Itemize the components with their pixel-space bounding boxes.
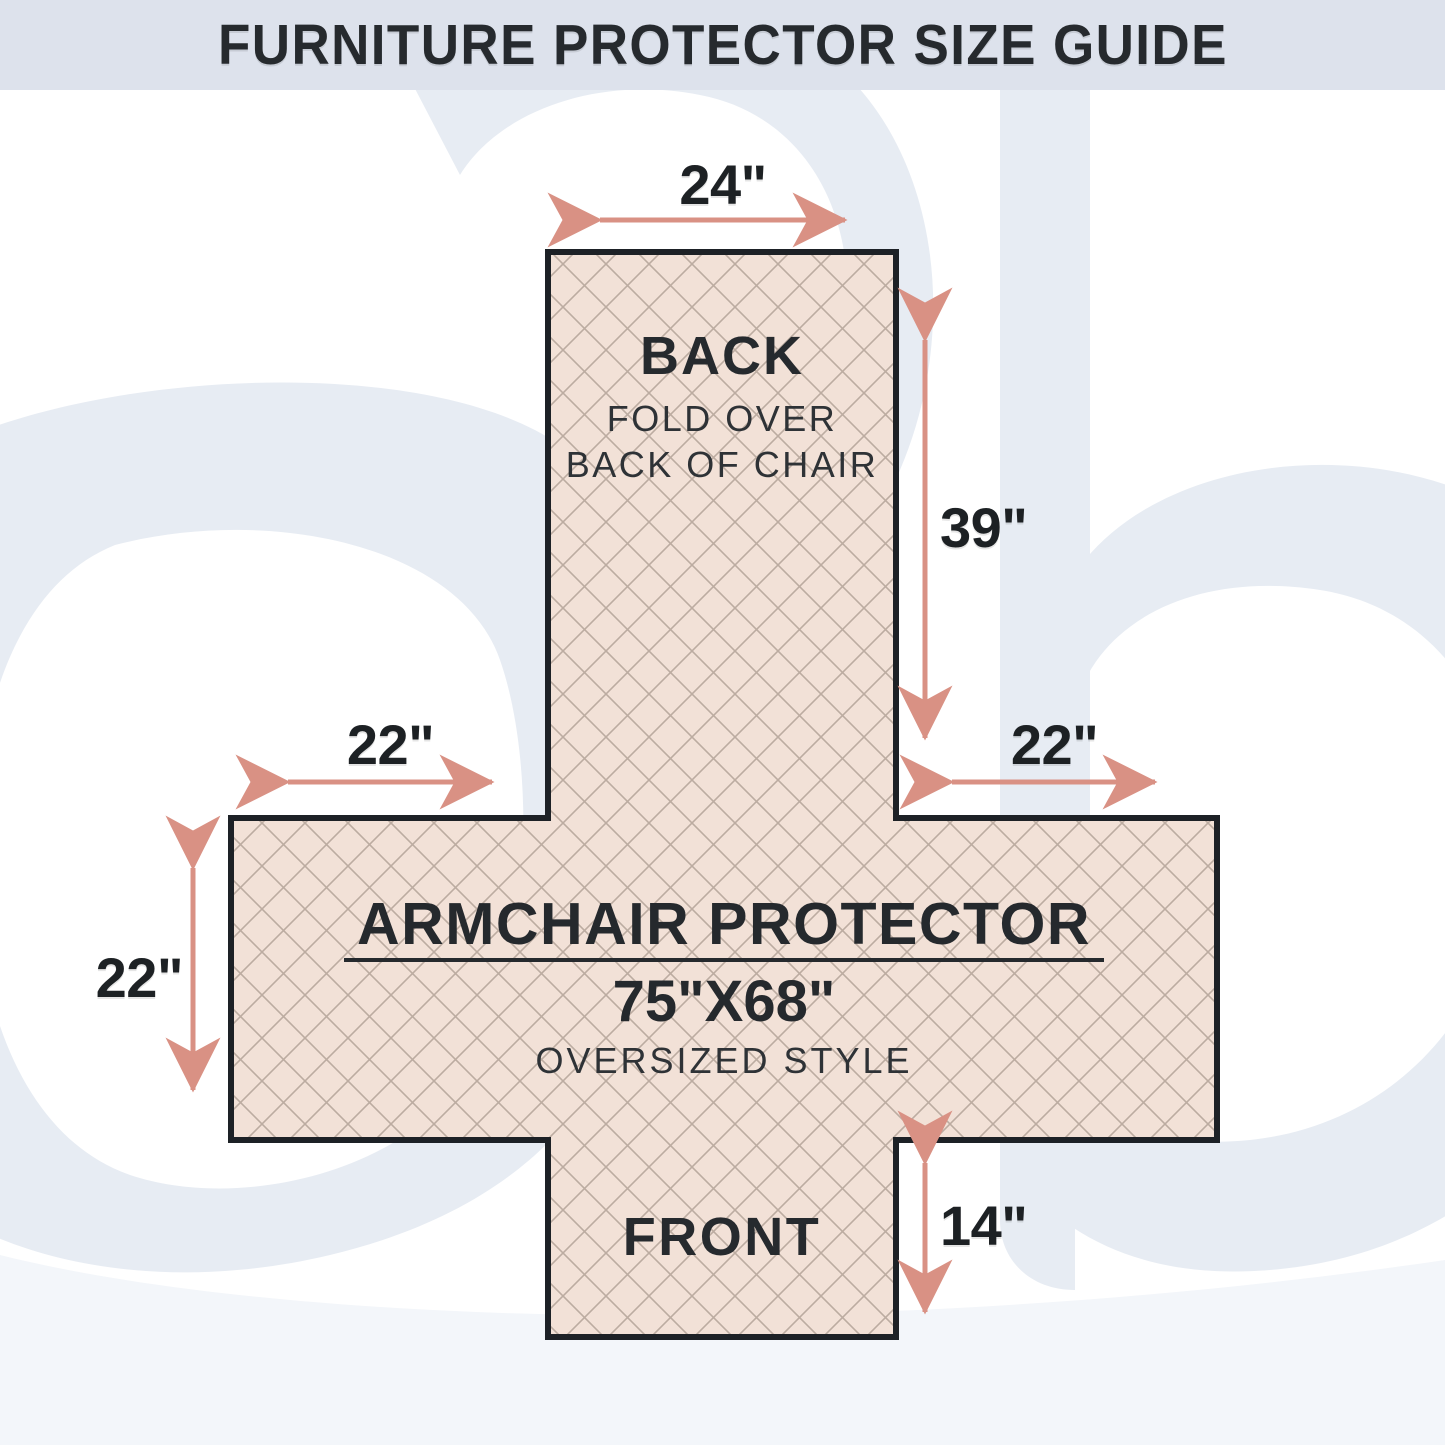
header-bar: FURNITURE PROTECTOR SIZE GUIDE: [0, 0, 1445, 90]
dimension-arrows: [0, 0, 1445, 1445]
size-guide-infographic: FURNITURE PROTECTOR SIZE GUIDE 24" 39" 2…: [0, 0, 1445, 1445]
page-title: FURNITURE PROTECTOR SIZE GUIDE: [218, 12, 1228, 78]
